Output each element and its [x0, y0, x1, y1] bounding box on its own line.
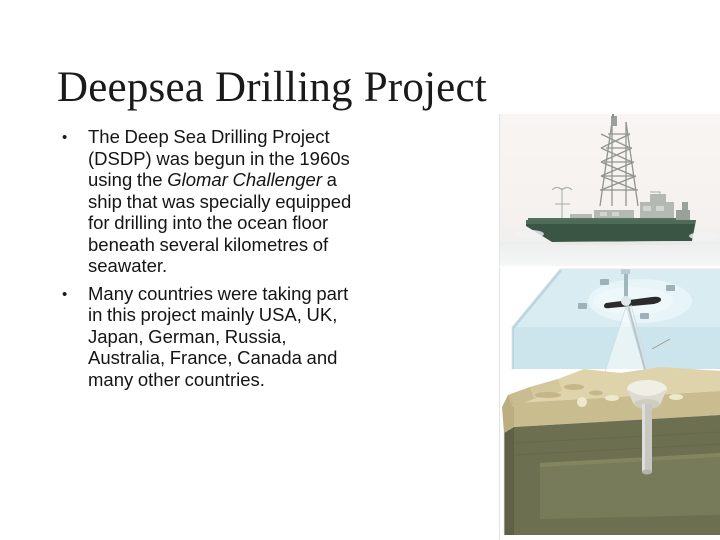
list-item: • The Deep Sea Drilling Project (DSDP) w… [58, 126, 488, 277]
bullet-text-participating-countries: Many countries were taking part in this … [88, 283, 358, 391]
deep-sea-drilling-cutaway-diagram [499, 267, 720, 540]
ship-photo-graphic [500, 114, 720, 266]
bullet-list: • The Deep Sea Drilling Project (DSDP) w… [58, 126, 488, 396]
bullet-point-icon: • [62, 284, 67, 305]
bullet-segment-italic-ship-name: Glomar Challenger [167, 169, 322, 190]
drilling-diagram-graphic [500, 267, 720, 540]
list-item: • Many countries were taking part in thi… [58, 283, 488, 391]
bullet-point-icon: • [62, 127, 67, 148]
glomar-challenger-ship-photo [499, 114, 720, 266]
page-title: Deepsea Drilling Project [57, 62, 517, 114]
bullet-text-dsdp-overview: The Deep Sea Drilling Project (DSDP) was… [88, 126, 358, 277]
presentation-slide: Deepsea Drilling Project • The Deep Sea … [0, 0, 720, 540]
